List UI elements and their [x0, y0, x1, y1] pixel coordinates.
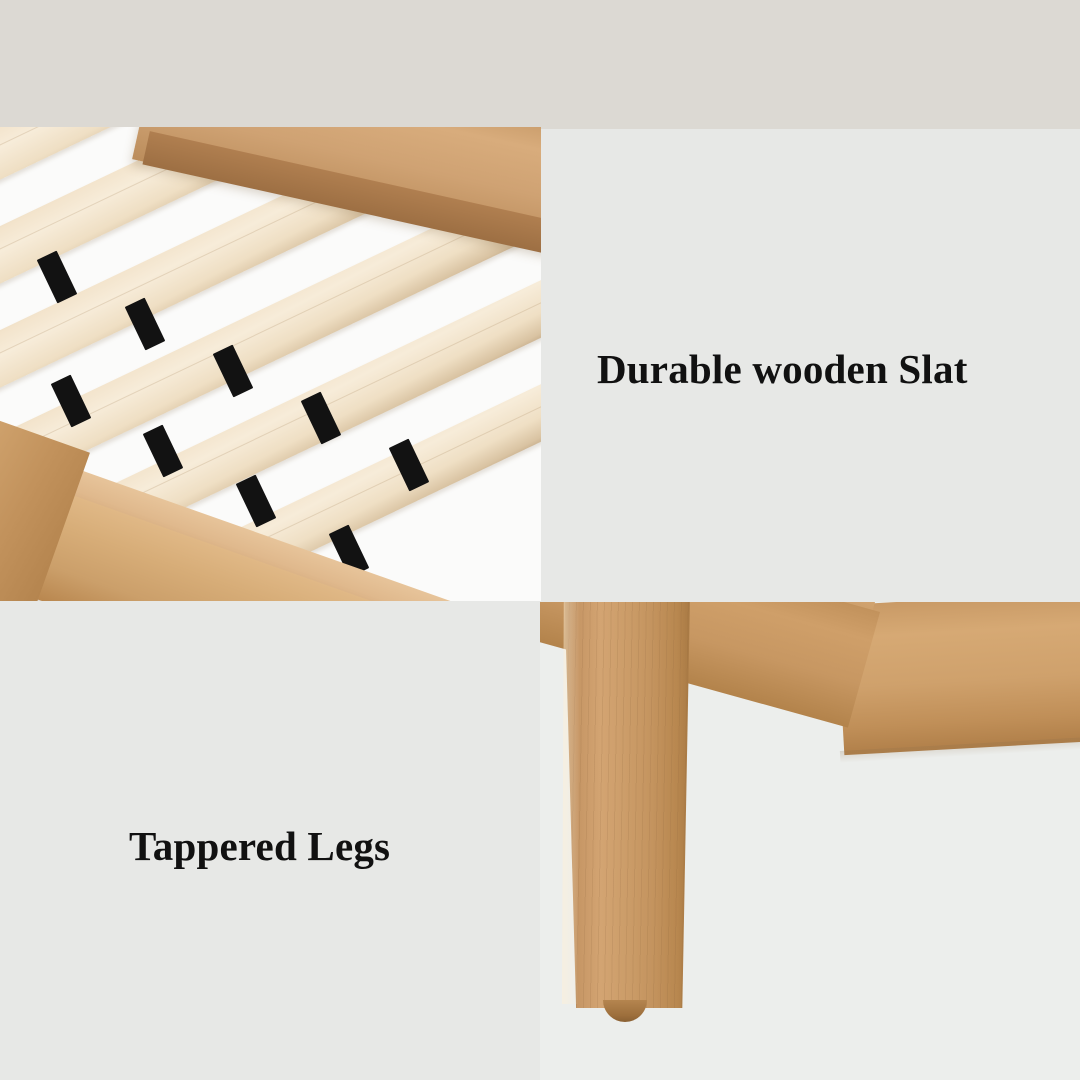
leg-foot-pad	[603, 1000, 647, 1022]
slats-photo-panel	[0, 127, 541, 601]
caption-durable-wooden-slat: Durable wooden Slat	[597, 345, 968, 393]
tapered-leg-woodgrain	[562, 602, 690, 1008]
tapered-leg-edge-highlight	[562, 602, 580, 1004]
top-warm-band	[0, 0, 1080, 129]
product-feature-graphic: Durable wooden Slat Tappered Legs	[0, 0, 1080, 1080]
leg-photo-panel	[540, 602, 1080, 1080]
caption-tappered-legs: Tappered Legs	[129, 822, 390, 870]
